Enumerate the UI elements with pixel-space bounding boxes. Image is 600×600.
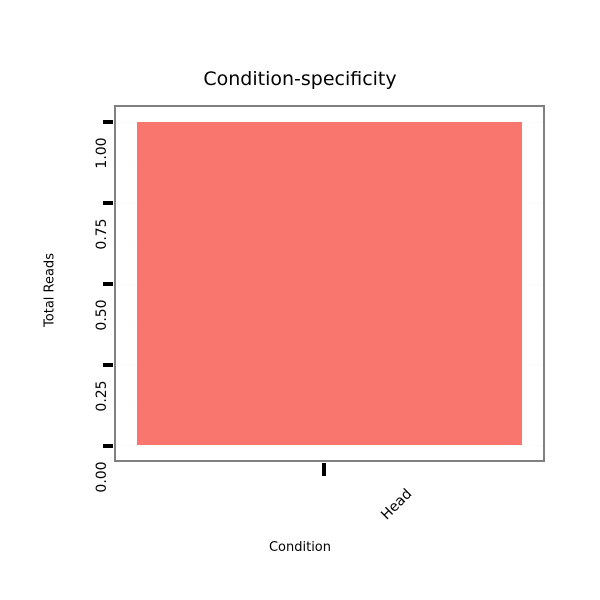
y-tick-label-4: 1.00 [94,123,110,183]
y-tick-mark-1 [103,363,113,367]
bar-head[interactable] [137,122,521,446]
y-tick-mark-0 [103,444,113,448]
x-axis-title: Condition [0,540,600,555]
y-tick-mark-3 [103,201,113,205]
gridline-major-0 [116,445,543,446]
y-tick-label-0: 0.00 [94,447,110,507]
chart-title: Condition-specificity [0,68,600,90]
panel-inner [116,107,543,460]
y-tick-label-1: 0.25 [94,366,110,426]
y-tick-label-2: 0.50 [94,285,110,345]
plot-panel [114,105,545,462]
y-tick-mark-4 [103,120,113,124]
y-axis-title: Total Reads [43,253,58,327]
x-tick-label-head: Head [355,486,416,547]
y-tick-mark-2 [103,282,113,286]
x-tick-mark-0 [322,463,326,476]
y-tick-label-3: 0.75 [94,204,110,264]
chart-canvas: Condition-specificity Total Reads 0.00 0… [0,0,600,600]
